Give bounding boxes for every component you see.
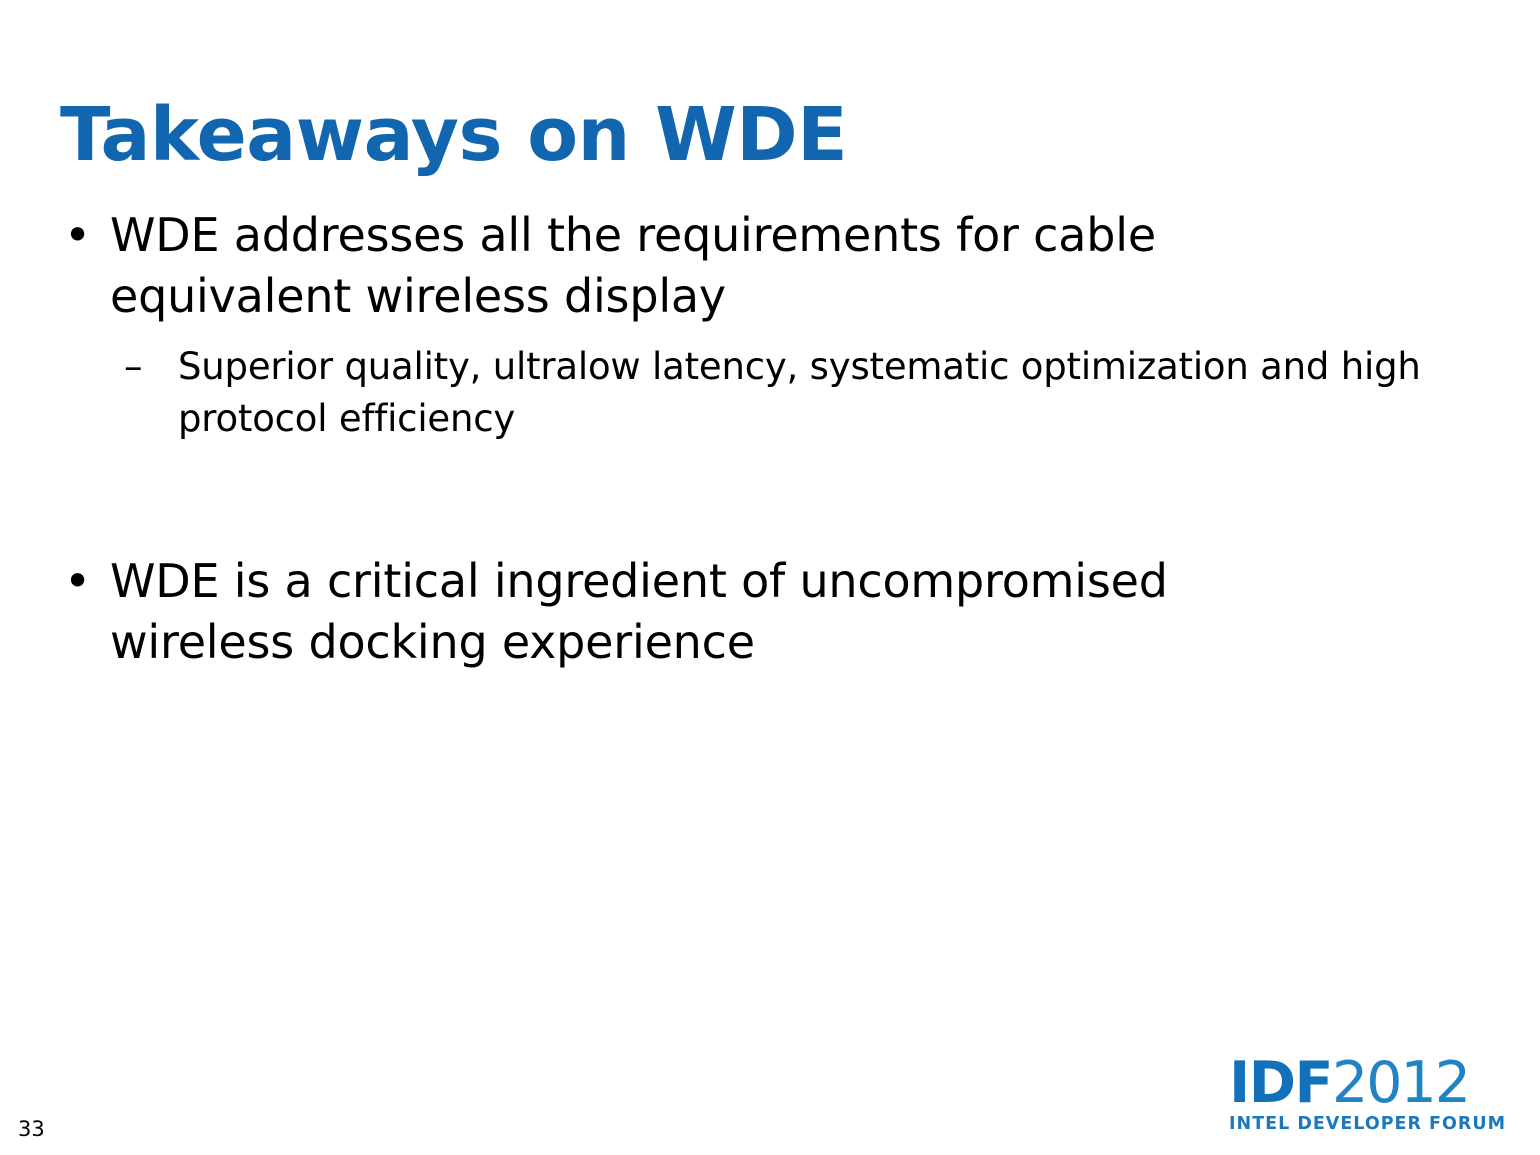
bullet-item-2: • WDE is a critical ingredient of uncomp… xyxy=(48,551,1488,673)
sub-bullet-marker-dash-icon: – xyxy=(124,341,142,393)
page-title: Takeaways on WDE xyxy=(60,94,1460,177)
bullet-marker-dot-icon: • xyxy=(64,205,91,266)
page-number: 33 xyxy=(18,1117,45,1141)
sub-bullet-item-1-text: Superior quality, ultralow latency, syst… xyxy=(178,341,1478,445)
bullet-marker-dot-icon: • xyxy=(64,551,91,612)
idf-logo-year: 2012 xyxy=(1332,1050,1469,1116)
bullet-spacer xyxy=(48,445,1488,551)
sub-bullet-item-1: – Superior quality, ultralow latency, sy… xyxy=(48,341,1488,445)
idf-logo-wordmark: IDF2012 xyxy=(1229,1056,1506,1110)
slide-body: • WDE addresses all the requirements for… xyxy=(48,205,1488,673)
idf-logo-tagline: INTEL DEVELOPER FORUM xyxy=(1229,1116,1506,1134)
bullet-item-1: • WDE addresses all the requirements for… xyxy=(48,205,1488,327)
idf-logo-name: IDF xyxy=(1229,1050,1332,1116)
slide-canvas: Takeaways on WDE • WDE addresses all the… xyxy=(0,0,1540,1155)
idf-logo: IDF2012 INTEL DEVELOPER FORUM xyxy=(1229,1056,1506,1133)
bullet-item-1-text: WDE addresses all the requirements for c… xyxy=(110,205,1340,327)
bullet-item-2-text: WDE is a critical ingredient of uncompro… xyxy=(110,551,1340,673)
